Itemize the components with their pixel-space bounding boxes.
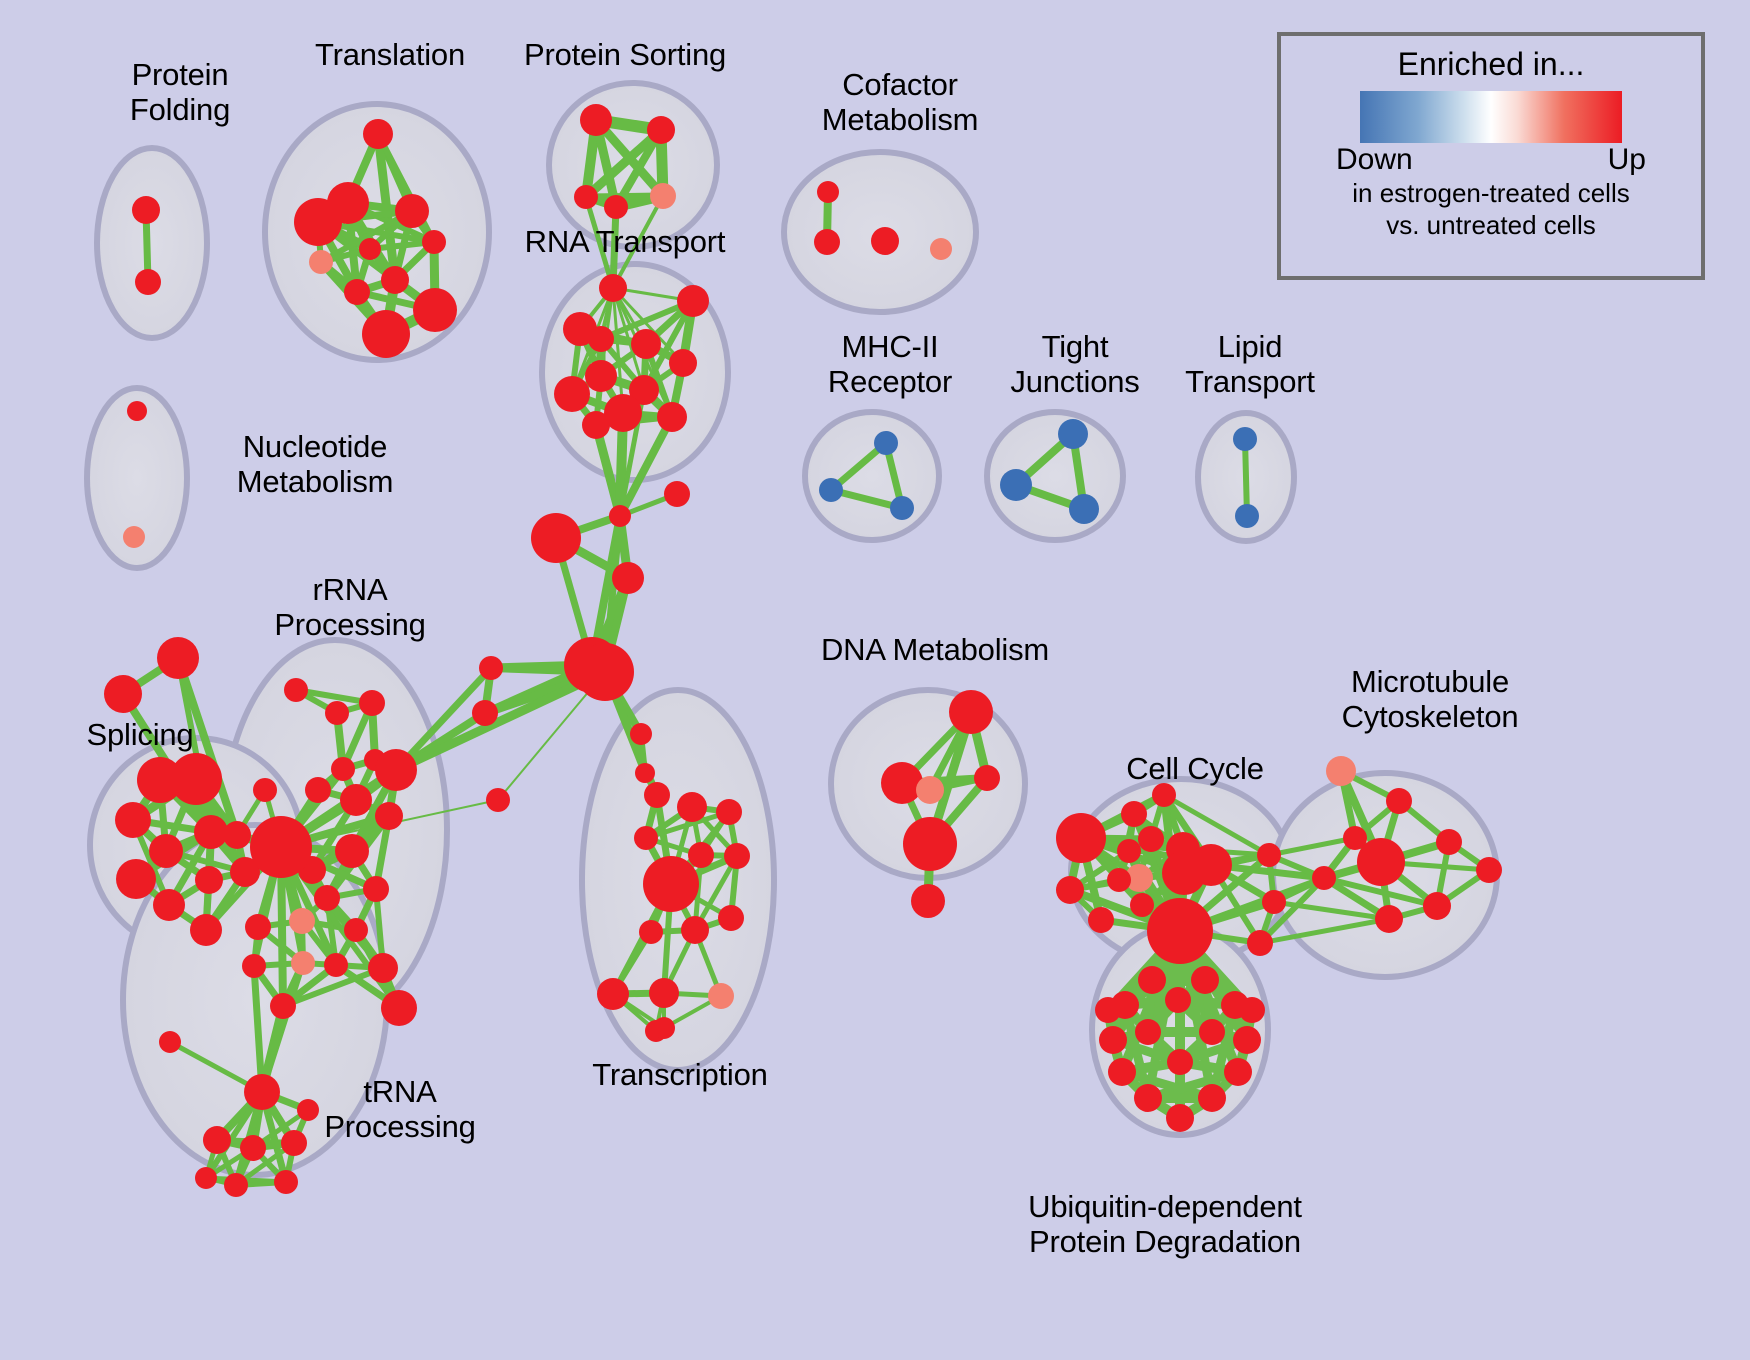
node[interactable] — [1326, 756, 1356, 786]
node[interactable] — [1191, 966, 1219, 994]
node[interactable] — [871, 227, 899, 255]
node[interactable] — [677, 285, 709, 317]
cluster-label-protein-folding: Protein Folding — [80, 58, 280, 127]
cluster-label-translation: Translation — [275, 38, 505, 73]
node[interactable] — [604, 195, 628, 219]
node[interactable] — [1199, 1019, 1225, 1045]
node[interactable] — [359, 690, 385, 716]
node[interactable] — [203, 1126, 231, 1154]
node[interactable] — [649, 978, 679, 1008]
node[interactable] — [930, 238, 952, 260]
node[interactable] — [718, 905, 744, 931]
node[interactable] — [639, 920, 663, 944]
node[interactable] — [664, 481, 690, 507]
node[interactable] — [363, 119, 393, 149]
cluster-label-dna-metabolism: DNA Metabolism — [805, 633, 1065, 668]
node[interactable] — [250, 816, 312, 878]
node[interactable] — [223, 821, 251, 849]
node[interactable] — [479, 656, 503, 680]
node[interactable] — [1476, 857, 1502, 883]
node[interactable] — [819, 478, 843, 502]
node[interactable] — [104, 675, 142, 713]
node[interactable] — [612, 562, 644, 594]
node[interactable] — [881, 762, 923, 804]
node[interactable] — [597, 978, 629, 1010]
legend-down-label: Down — [1336, 143, 1413, 177]
node[interactable] — [195, 1167, 217, 1189]
node[interactable] — [669, 349, 697, 377]
node[interactable] — [1099, 1026, 1127, 1054]
node[interactable] — [224, 1173, 248, 1197]
node[interactable] — [270, 993, 296, 1019]
node[interactable] — [1088, 907, 1114, 933]
node[interactable] — [340, 784, 372, 816]
node[interactable] — [554, 376, 590, 412]
node[interactable] — [284, 678, 308, 702]
node[interactable] — [395, 194, 429, 228]
node[interactable] — [1357, 838, 1405, 886]
node[interactable] — [1166, 1104, 1194, 1132]
node[interactable] — [1224, 1058, 1252, 1086]
node[interactable] — [1239, 997, 1265, 1023]
node[interactable] — [650, 183, 676, 209]
node[interactable] — [159, 1031, 181, 1053]
node[interactable] — [123, 526, 145, 548]
node[interactable] — [294, 198, 342, 246]
node[interactable] — [643, 856, 699, 912]
node[interactable] — [242, 954, 266, 978]
node[interactable] — [1235, 504, 1259, 528]
node[interactable] — [1000, 469, 1032, 501]
node[interactable] — [1121, 801, 1147, 827]
node[interactable] — [1257, 843, 1281, 867]
node[interactable] — [644, 782, 670, 808]
node[interactable] — [1198, 1084, 1226, 1112]
node[interactable] — [325, 701, 349, 725]
legend-endpoints: Down Up — [1336, 143, 1646, 177]
node[interactable] — [657, 402, 687, 432]
node[interactable] — [580, 104, 612, 136]
node[interactable] — [127, 401, 147, 421]
node[interactable] — [531, 513, 581, 563]
node[interactable] — [240, 1135, 266, 1161]
node[interactable] — [974, 765, 1000, 791]
node[interactable] — [647, 116, 675, 144]
node[interactable] — [1162, 851, 1206, 895]
node[interactable] — [153, 889, 185, 921]
node[interactable] — [170, 753, 222, 805]
node[interactable] — [1233, 1026, 1261, 1054]
node[interactable] — [814, 229, 840, 255]
node[interactable] — [576, 643, 634, 701]
node[interactable] — [1138, 966, 1166, 994]
node[interactable] — [344, 918, 368, 942]
cluster-label-microtubule-cytoskeleton: Microtubule Cytoskeleton — [1300, 665, 1560, 734]
node[interactable] — [309, 250, 333, 274]
node[interactable] — [194, 815, 228, 849]
node[interactable] — [422, 230, 446, 254]
node[interactable] — [677, 792, 707, 822]
node[interactable] — [253, 778, 277, 802]
node[interactable] — [244, 1074, 280, 1110]
cluster-label-splicing: Splicing — [55, 718, 225, 753]
node[interactable] — [634, 826, 658, 850]
node[interactable] — [949, 690, 993, 734]
cluster-label-tight-junctions: Tight Junctions — [975, 330, 1175, 399]
cluster-label-cofactor-metabolism: Cofactor Metabolism — [785, 68, 1015, 137]
node[interactable] — [363, 876, 389, 902]
cluster-label-protein-sorting: Protein Sorting — [495, 38, 755, 73]
node[interactable] — [331, 757, 355, 781]
node[interactable] — [631, 329, 661, 359]
node[interactable] — [1167, 1049, 1193, 1075]
node[interactable] — [653, 1017, 675, 1039]
node[interactable] — [324, 953, 348, 977]
node[interactable] — [574, 185, 598, 209]
node[interactable] — [149, 834, 183, 868]
node[interactable] — [1436, 829, 1462, 855]
node[interactable] — [599, 274, 627, 302]
node[interactable] — [291, 951, 315, 975]
node[interactable] — [582, 411, 610, 439]
node[interactable] — [368, 953, 398, 983]
network-figure: .hull{fill:url(#hull);stroke:#a9a9c6;str… — [0, 0, 1750, 1360]
hull-protein-folding — [97, 148, 207, 338]
node[interactable] — [609, 505, 631, 527]
cluster-label-ubiquitin-degradation: Ubiquitin-dependent Protein Degradation — [975, 1190, 1355, 1259]
node[interactable] — [903, 817, 957, 871]
node[interactable] — [1233, 427, 1257, 451]
node[interactable] — [708, 983, 734, 1009]
legend-up-label: Up — [1608, 143, 1646, 177]
node[interactable] — [362, 310, 410, 358]
node[interactable] — [1375, 905, 1403, 933]
node[interactable] — [630, 723, 652, 745]
node[interactable] — [635, 763, 655, 783]
node[interactable] — [911, 884, 945, 918]
node[interactable] — [817, 181, 839, 203]
node[interactable] — [335, 834, 369, 868]
node[interactable] — [1056, 813, 1106, 863]
node[interactable] — [195, 866, 223, 894]
node[interactable] — [116, 859, 156, 899]
cluster-label-lipid-transport: Lipid Transport — [1150, 330, 1350, 399]
node[interactable] — [1135, 1019, 1161, 1045]
node[interactable] — [135, 269, 161, 295]
node[interactable] — [486, 788, 510, 812]
node[interactable] — [1069, 494, 1099, 524]
cluster-label-trna-processing: tRNA Processing — [300, 1075, 500, 1144]
node[interactable] — [724, 843, 750, 869]
legend-subtitle-1: in estrogen-treated cells — [1281, 179, 1701, 209]
cluster-label-transcription: Transcription — [565, 1058, 795, 1093]
node[interactable] — [413, 288, 457, 332]
node[interactable] — [472, 700, 498, 726]
node[interactable] — [190, 914, 222, 946]
node[interactable] — [1262, 890, 1286, 914]
node[interactable] — [1130, 893, 1154, 917]
node[interactable] — [585, 360, 617, 392]
node[interactable] — [890, 496, 914, 520]
node[interactable] — [132, 196, 160, 224]
node[interactable] — [1165, 987, 1191, 1013]
cluster-label-cell-cycle: Cell Cycle — [1095, 752, 1295, 787]
node[interactable] — [1107, 868, 1131, 892]
node[interactable] — [375, 802, 403, 830]
cluster-label-rrna-processing: rRNA Processing — [250, 573, 450, 642]
node[interactable] — [1312, 866, 1336, 890]
node[interactable] — [1095, 997, 1121, 1023]
hull-mhc — [805, 412, 939, 540]
node[interactable] — [1108, 1058, 1136, 1086]
node[interactable] — [381, 266, 409, 294]
node[interactable] — [1058, 419, 1088, 449]
node[interactable] — [1423, 892, 1451, 920]
node[interactable] — [874, 431, 898, 455]
node[interactable] — [916, 776, 944, 804]
cluster-label-rna-transport: RNA Transport — [500, 225, 750, 260]
legend-subtitle-2: vs. untreated cells — [1281, 211, 1701, 241]
node[interactable] — [314, 885, 340, 911]
node[interactable] — [305, 777, 331, 803]
node[interactable] — [1056, 876, 1084, 904]
node[interactable] — [381, 990, 417, 1026]
node[interactable] — [157, 637, 199, 679]
node[interactable] — [115, 802, 151, 838]
node[interactable] — [1134, 1084, 1162, 1112]
node[interactable] — [359, 238, 381, 260]
legend-color-bar — [1360, 91, 1622, 143]
node[interactable] — [245, 914, 271, 940]
node[interactable] — [1138, 826, 1164, 852]
node[interactable] — [1247, 930, 1273, 956]
legend-title: Enriched in... — [1281, 46, 1701, 83]
node[interactable] — [1117, 839, 1141, 863]
node[interactable] — [344, 279, 370, 305]
node[interactable] — [375, 749, 417, 791]
node[interactable] — [716, 799, 742, 825]
node[interactable] — [1147, 898, 1213, 964]
node[interactable] — [274, 1170, 298, 1194]
cluster-label-nucleotide-metabolism: Nucleotide Metabolism — [195, 430, 435, 499]
node[interactable] — [688, 842, 714, 868]
node[interactable] — [1386, 788, 1412, 814]
node[interactable] — [681, 916, 709, 944]
node[interactable] — [588, 326, 614, 352]
legend-panel: Enriched in... Down Up in estrogen-treat… — [1277, 32, 1705, 280]
cluster-label-mhc-ii-receptor: MHC-II Receptor — [790, 330, 990, 399]
node[interactable] — [289, 908, 315, 934]
